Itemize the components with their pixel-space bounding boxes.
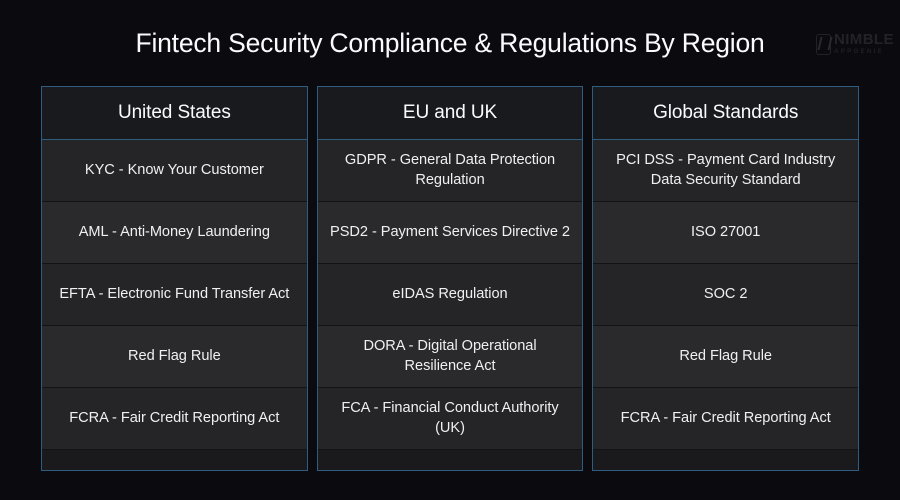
row-label: DORA - Digital Operational Resilience Ac… [330, 337, 571, 376]
page-title: Fintech Security Compliance & Regulation… [135, 30, 764, 57]
table-row: AML - Anti-Money Laundering [42, 202, 307, 264]
table-row: ISO 27001 [593, 202, 858, 264]
table-row: PSD2 - Payment Services Directive 2 [318, 202, 583, 264]
table-row: Red Flag Rule [42, 326, 307, 388]
logo-tagline: APPGENIE [834, 49, 894, 55]
comparison-tables: United States KYC - Know Your Customer A… [41, 86, 859, 471]
table-header-label: United States [118, 102, 231, 124]
logo-name: NIMBLE [834, 32, 894, 47]
table-global-standards: Global Standards PCI DSS - Payment Card … [592, 86, 859, 471]
row-label: FCA - Financial Conduct Authority (UK) [330, 399, 571, 438]
row-label: SOC 2 [704, 285, 748, 304]
table-header-eu-and-uk: EU and UK [318, 87, 583, 140]
table-body-united-states: KYC - Know Your Customer AML - Anti-Mone… [42, 140, 307, 450]
row-label: KYC - Know Your Customer [85, 161, 264, 180]
row-label: FCRA - Fair Credit Reporting Act [69, 409, 279, 428]
logo-wordmark: NIMBLE APPGENIE [834, 32, 894, 55]
brand-logo: NIMBLE APPGENIE [816, 29, 892, 59]
table-footer [593, 450, 858, 470]
table-row: FCRA - Fair Credit Reporting Act [593, 388, 858, 450]
row-label: PCI DSS - Payment Card Industry Data Sec… [605, 151, 846, 190]
table-eu-and-uk: EU and UK GDPR - General Data Protection… [317, 86, 584, 471]
table-united-states: United States KYC - Know Your Customer A… [41, 86, 308, 471]
table-header-label: EU and UK [403, 102, 497, 124]
table-row: GDPR - General Data Protection Regulatio… [318, 140, 583, 202]
table-body-eu-and-uk: GDPR - General Data Protection Regulatio… [318, 140, 583, 450]
table-footer [42, 450, 307, 470]
table-row: PCI DSS - Payment Card Industry Data Sec… [593, 140, 858, 202]
table-row: SOC 2 [593, 264, 858, 326]
row-label: PSD2 - Payment Services Directive 2 [330, 223, 570, 242]
table-row: Red Flag Rule [593, 326, 858, 388]
row-label: Red Flag Rule [679, 347, 772, 366]
row-label: GDPR - General Data Protection Regulatio… [330, 151, 571, 190]
table-header-label: Global Standards [653, 102, 798, 124]
table-row: EFTA - Electronic Fund Transfer Act [42, 264, 307, 326]
table-row: FCRA - Fair Credit Reporting Act [42, 388, 307, 450]
table-body-global-standards: PCI DSS - Payment Card Industry Data Sec… [593, 140, 858, 450]
title-bar: Fintech Security Compliance & Regulation… [0, 0, 900, 86]
nimble-monogram-icon [816, 34, 831, 55]
row-label: Red Flag Rule [128, 347, 221, 366]
table-row: FCA - Financial Conduct Authority (UK) [318, 388, 583, 450]
row-label: AML - Anti-Money Laundering [79, 223, 270, 242]
row-label: eIDAS Regulation [392, 285, 507, 304]
table-header-united-states: United States [42, 87, 307, 140]
row-label: ISO 27001 [691, 223, 760, 242]
table-footer [318, 450, 583, 470]
table-row: eIDAS Regulation [318, 264, 583, 326]
table-row: DORA - Digital Operational Resilience Ac… [318, 326, 583, 388]
table-header-global-standards: Global Standards [593, 87, 858, 140]
table-row: KYC - Know Your Customer [42, 140, 307, 202]
row-label: EFTA - Electronic Fund Transfer Act [59, 285, 289, 304]
row-label: FCRA - Fair Credit Reporting Act [621, 409, 831, 428]
